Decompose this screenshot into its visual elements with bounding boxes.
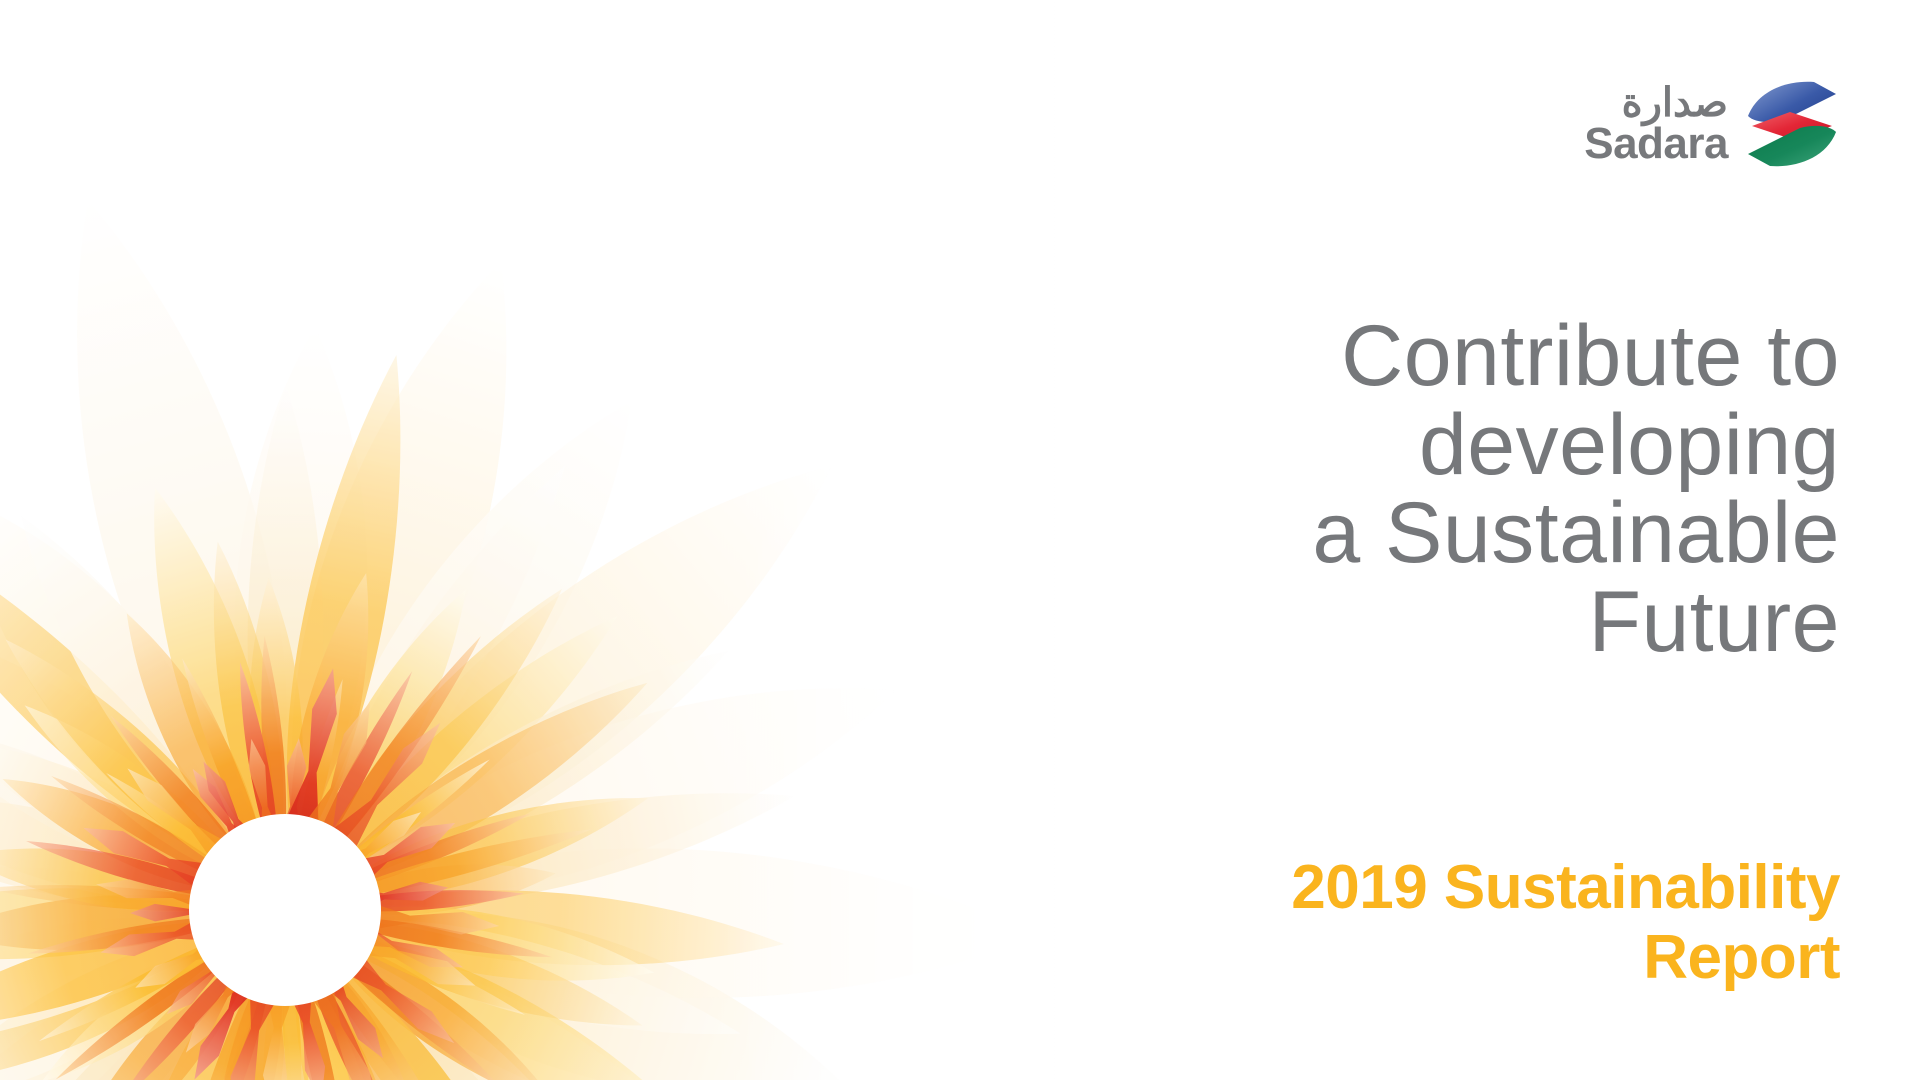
logo-arabic-wordmark: صدارة bbox=[1622, 82, 1728, 124]
headline-line-1: Contribute to bbox=[860, 312, 1840, 401]
report-title-line-1: 2019 Sustainability bbox=[860, 853, 1840, 922]
report-cover-page: صدارة Sadara bbox=[0, 0, 1920, 1080]
logo-latin-wordmark: Sadara bbox=[1584, 122, 1728, 166]
sadara-s-logomark-icon bbox=[1744, 80, 1840, 168]
report-title: 2019 Sustainability Report bbox=[860, 853, 1840, 992]
sadara-logo: صدارة Sadara bbox=[1584, 72, 1840, 176]
cover-headline: Contribute to developing a Sustainable F… bbox=[860, 312, 1840, 666]
logo-wordmark: صدارة Sadara bbox=[1584, 82, 1728, 166]
headline-line-3: a Sustainable bbox=[860, 489, 1840, 578]
headline-line-2: developing bbox=[860, 401, 1840, 490]
report-title-line-2: Report bbox=[860, 923, 1840, 992]
headline-line-4: Future bbox=[860, 578, 1840, 667]
